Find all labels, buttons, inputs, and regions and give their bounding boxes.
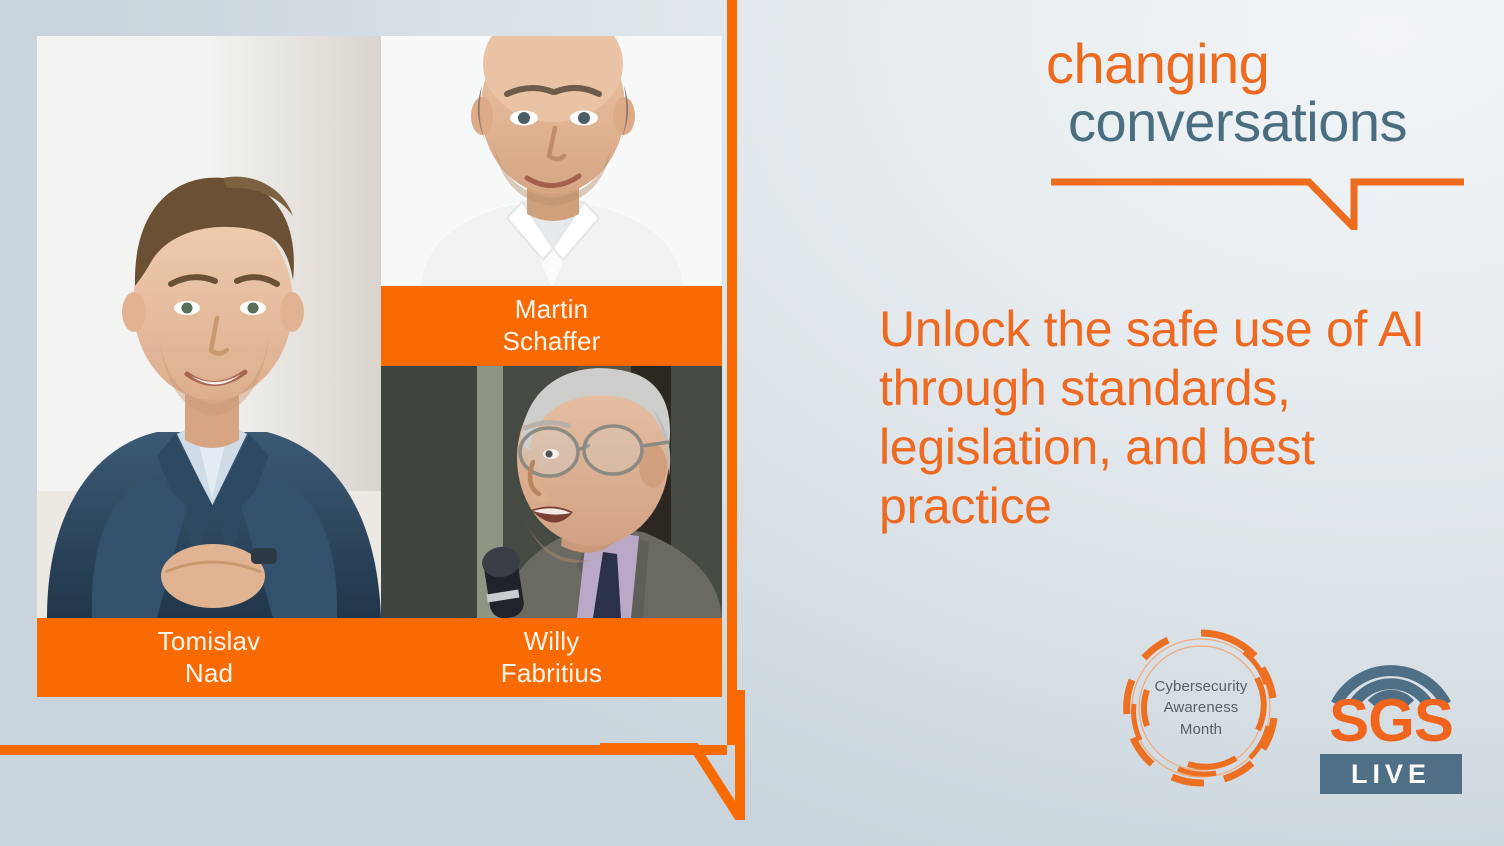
speaker-photo-tomislav-nad: [37, 36, 381, 618]
speaker-first-name: Martin: [515, 294, 588, 326]
bubble-vertical-line: [727, 0, 737, 745]
slide-canvas: Martin Schaffer Tomislav Nad Willy Fabri…: [0, 0, 1504, 846]
name-label-willy-fabritius: Willy Fabritius: [381, 618, 722, 697]
speaker-photo-martin-schaffer: [381, 36, 722, 286]
bubble-tail: [600, 690, 780, 820]
page-title: Unlock the safe use of AI through standa…: [879, 300, 1479, 536]
cam-logo-text: Cybersecurity Awareness Month: [1116, 622, 1286, 794]
speaker-first-name: Tomislav: [158, 626, 261, 658]
speaker-last-name: Nad: [185, 658, 233, 690]
speaker-last-name: Schaffer: [503, 326, 601, 358]
brand-underline-bubble-tail: [1046, 170, 1466, 230]
sgs-wordmark: SGS: [1316, 690, 1466, 752]
name-label-martin-schaffer: Martin Schaffer: [381, 286, 722, 366]
speaker-photo-willy-fabritius: [381, 366, 722, 618]
sgs-live-badge: LIVE: [1320, 754, 1462, 794]
cybersecurity-awareness-month-logo: Cybersecurity Awareness Month: [1116, 622, 1286, 794]
sgs-live-logo: SGS LIVE: [1316, 646, 1466, 794]
brand-line-conversations: conversations: [1068, 92, 1466, 152]
brand-lockup: changing conversations: [1046, 36, 1466, 152]
cam-line-3: Month: [1180, 719, 1222, 740]
cam-line-2: Awareness: [1164, 697, 1239, 718]
brand-line-changing: changing: [1046, 36, 1466, 92]
speaker-collage: Martin Schaffer Tomislav Nad Willy Fabri…: [37, 36, 722, 697]
name-label-bottom-row: Tomislav Nad Willy Fabritius: [37, 618, 722, 697]
cam-line-1: Cybersecurity: [1155, 676, 1248, 697]
speaker-last-name: Fabritius: [501, 658, 603, 690]
name-label-tomislav-nad: Tomislav Nad: [37, 618, 381, 697]
speaker-first-name: Willy: [524, 626, 580, 658]
